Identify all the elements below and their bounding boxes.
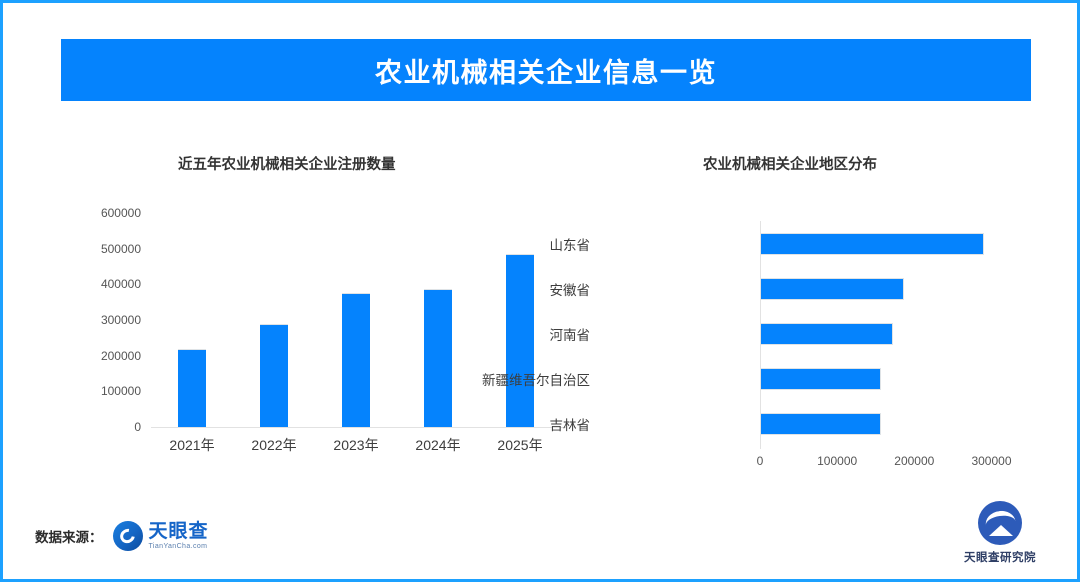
- bar-category-label: 吉林省: [550, 414, 591, 434]
- x-axis-category-label: 2022年: [251, 435, 296, 455]
- vertical-chart-plot: [151, 213, 561, 427]
- bar-category-label: 新疆维吾尔自治区: [482, 369, 590, 389]
- institute-logo: 天眼查研究院: [955, 501, 1045, 565]
- tianyancha-name-en: TianYanCha.com: [149, 543, 209, 550]
- chart-title-regions: 农业机械相关企业地区分布: [703, 153, 877, 174]
- chart-panel-registrations: 近五年农业机械相关企业注册数量 010000020000030000040000…: [73, 131, 583, 481]
- x-axis-tick: 300000: [971, 454, 1011, 468]
- column-bar: [506, 254, 534, 427]
- infographic-page: 农业机械相关企业信息一览 近五年农业机械相关企业注册数量 01000002000…: [0, 0, 1080, 582]
- y-axis-tick: 500000: [101, 242, 141, 256]
- horizontal-chart-axis-line: [760, 221, 761, 449]
- institute-name: 天眼查研究院: [964, 549, 1036, 565]
- horizontal-bar: [760, 368, 881, 390]
- institute-mountain-icon: [978, 501, 1022, 545]
- horizontal-bar: [760, 233, 984, 255]
- y-axis-tick: 400000: [101, 277, 141, 291]
- bar-category-label: 安徽省: [550, 279, 591, 299]
- column-bar: [342, 293, 370, 427]
- column-bar: [424, 289, 452, 427]
- data-source: 数据来源： 天眼查 TianYanCha.com: [35, 521, 209, 551]
- column-bar: [260, 324, 288, 427]
- x-axis-tick: 200000: [894, 454, 934, 468]
- horizontal-bar: [760, 278, 904, 300]
- column-bar: [178, 349, 206, 427]
- x-axis-category-label: 2023年: [333, 435, 378, 455]
- horizontal-chart-plot: [760, 221, 1010, 446]
- chart-title-registrations: 近五年农业机械相关企业注册数量: [178, 153, 396, 174]
- bar-category-label: 山东省: [550, 234, 591, 254]
- y-axis-tick: 0: [134, 420, 141, 434]
- y-axis-tick: 300000: [101, 313, 141, 327]
- vertical-chart-x-labels: 2021年2022年2023年2024年2025年: [151, 435, 566, 459]
- chart-panel-regions: 农业机械相关企业地区分布 山东省安徽省河南省新疆维吾尔自治区吉林省 010000…: [598, 131, 1018, 481]
- horizontal-bar: [760, 413, 881, 435]
- x-axis-category-label: 2024年: [415, 435, 460, 455]
- x-axis-tick: 0: [757, 454, 764, 468]
- x-axis-category-label: 2021年: [169, 435, 214, 455]
- x-axis-category-label: 2025年: [497, 435, 542, 455]
- tianyancha-wordmark: 天眼查 TianYanCha.com: [149, 522, 209, 550]
- vertical-chart-baseline: [151, 427, 566, 428]
- page-title: 农业机械相关企业信息一览: [375, 51, 717, 90]
- tianyancha-name-cn: 天眼查: [149, 522, 209, 541]
- tianyancha-eye-icon: [113, 521, 143, 551]
- y-axis-tick: 100000: [101, 384, 141, 398]
- x-axis-tick: 100000: [817, 454, 857, 468]
- horizontal-chart-x-labels: 0100000200000300000: [760, 454, 1010, 474]
- y-axis-tick: 600000: [101, 206, 141, 220]
- y-axis-tick: 200000: [101, 349, 141, 363]
- horizontal-bar: [760, 323, 893, 345]
- tianyancha-logo: 天眼查 TianYanCha.com: [113, 521, 209, 551]
- bar-category-label: 河南省: [550, 324, 591, 344]
- title-banner: 农业机械相关企业信息一览: [61, 39, 1031, 101]
- vertical-chart-y-axis: 0100000200000300000400000500000600000: [73, 213, 141, 427]
- data-source-label: 数据来源：: [35, 526, 103, 546]
